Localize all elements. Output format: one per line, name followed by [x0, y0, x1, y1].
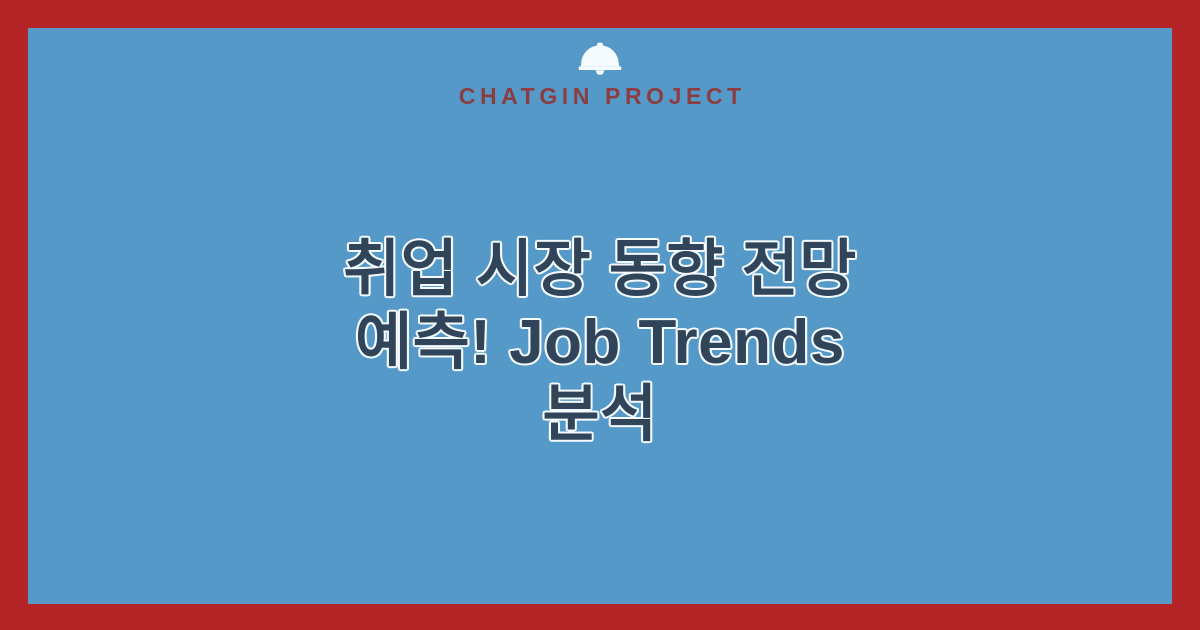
cloche-bell-icon: [577, 42, 623, 76]
brand-block: CHATGIN PROJECT: [454, 42, 746, 108]
content-card: CHATGIN PROJECT 취업 시장 동향 전망 예측! Job Tren…: [28, 28, 1172, 604]
thumbnail-canvas: CHATGIN PROJECT 취업 시장 동향 전망 예측! Job Tren…: [0, 0, 1200, 630]
page-title: 취업 시장 동향 전망 예측! Job Trends 분석: [290, 234, 910, 452]
brand-name: CHATGIN PROJECT: [454, 85, 746, 108]
headline-container: 취업 시장 동향 전망 예측! Job Trends 분석: [28, 108, 1172, 604]
